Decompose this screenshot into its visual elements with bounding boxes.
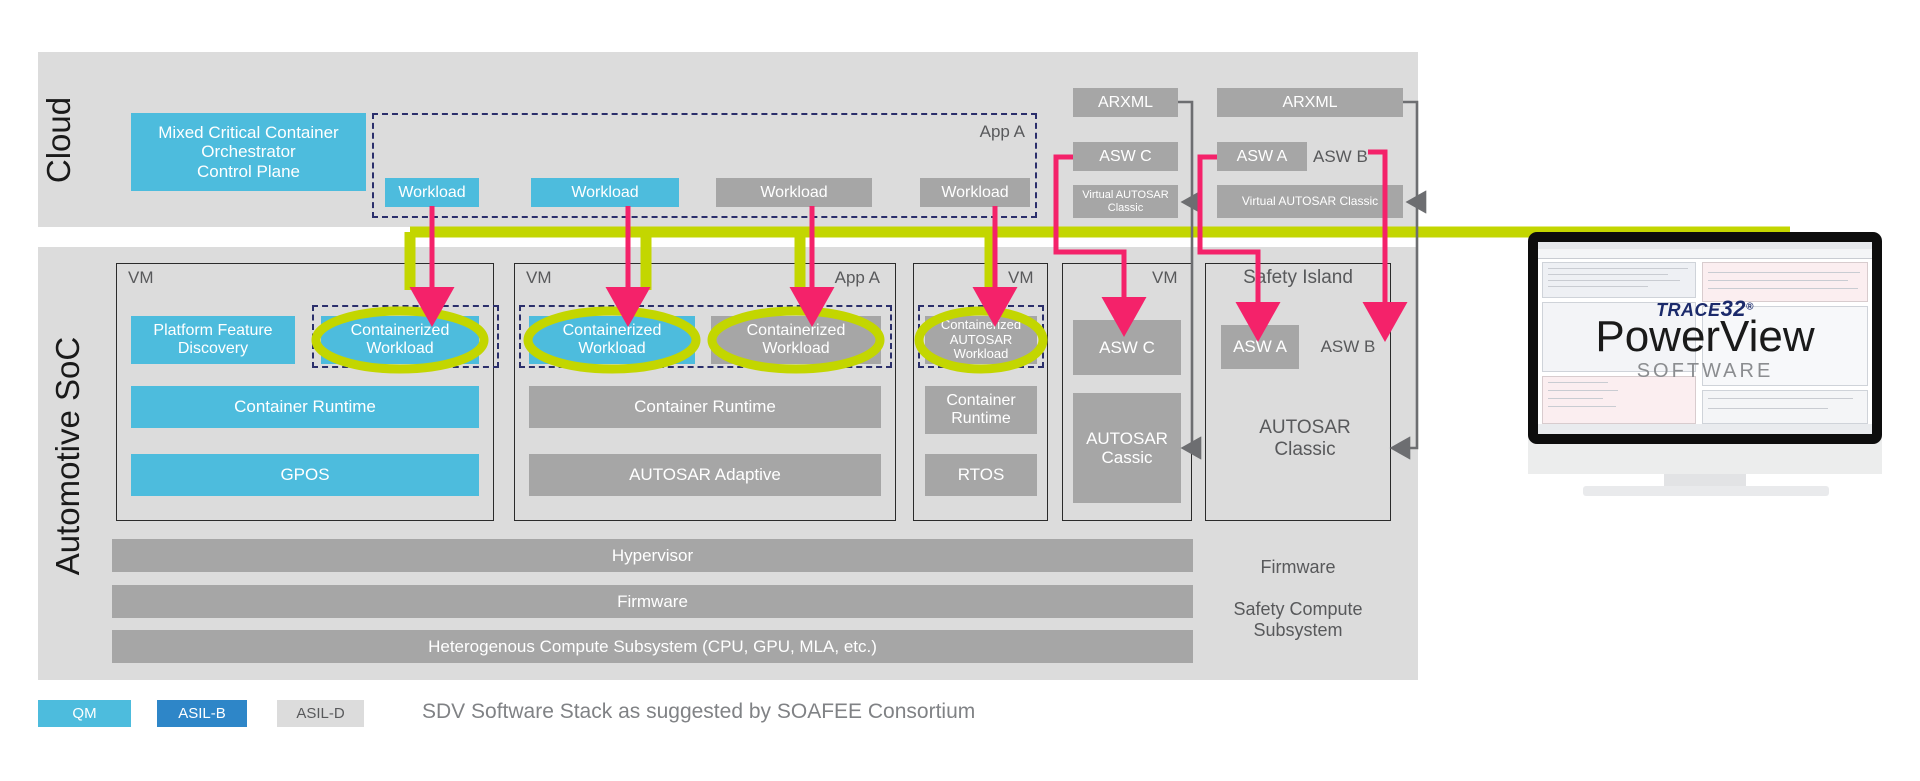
screen-text-line	[1708, 288, 1858, 289]
safety-island-autosar-classic-label: AUTOSAR Classic	[1230, 415, 1380, 463]
vm-2-container-runtime[interactable]: Container Runtime	[529, 386, 881, 428]
vm-2-containerized-workload-a[interactable]: Containerized Workload	[529, 316, 695, 364]
cloud-asw-b-label: ASW B	[1313, 142, 1403, 171]
screen-text-line	[1708, 408, 1828, 409]
legend-chip-qm[interactable]: QM	[38, 700, 131, 727]
vm-3-rtos[interactable]: RTOS	[925, 454, 1037, 496]
screen-statusbar	[1538, 424, 1872, 434]
cloud-virtual-autosar-classic-left[interactable]: Virtual AUTOSAR Classic	[1073, 185, 1178, 218]
monitor-screen[interactable]: TRACE32® PowerView SOFTWARE	[1538, 242, 1872, 434]
screen-text-line	[1708, 280, 1848, 281]
hypervisor-layer[interactable]: Hypervisor	[112, 539, 1193, 572]
diagram-root: Cloud Automotive SoC Mixed Critical Cont…	[0, 0, 1920, 781]
cloud-arxml-left[interactable]: ARXML	[1073, 88, 1178, 117]
screen-text-line	[1548, 398, 1603, 399]
cloud-virtual-autosar-classic-right[interactable]: Virtual AUTOSAR Classic	[1217, 185, 1403, 218]
legend-chip-asil-b[interactable]: ASIL-B	[157, 700, 247, 727]
screen-text-line	[1548, 274, 1668, 275]
cloud-arxml-right[interactable]: ARXML	[1217, 88, 1403, 117]
vm-2-autosar-adaptive[interactable]: AUTOSAR Adaptive	[529, 454, 881, 496]
screen-text-line	[1548, 268, 1688, 269]
vm-3-title: VM	[1008, 268, 1034, 288]
screen-text-line	[1548, 406, 1616, 407]
screen-text-line	[1708, 398, 1853, 399]
vm-3-container-runtime[interactable]: Container Runtime	[925, 386, 1037, 434]
vm-1-container-runtime[interactable]: Container Runtime	[131, 386, 479, 428]
vm-2-containerized-workload-b[interactable]: Containerized Workload	[711, 316, 881, 364]
cloud-workload-3[interactable]: Workload	[716, 178, 872, 207]
diagram-caption: SDV Software Stack as suggested by SOAFE…	[422, 700, 975, 724]
heterogenous-compute-subsystem-layer[interactable]: Heterogenous Compute Subsystem (CPU, GPU…	[112, 630, 1193, 663]
mixed-critical-orchestrator-box[interactable]: Mixed Critical Container Orchestrator Co…	[131, 113, 366, 191]
safety-island	[1205, 263, 1391, 521]
screen-text-line	[1548, 382, 1608, 383]
screen-text-line	[1548, 280, 1680, 281]
cloud-workload-4[interactable]: Workload	[920, 178, 1030, 207]
screen-toolbar	[1538, 249, 1872, 258]
safety-island-asw-a[interactable]: ASW A	[1221, 325, 1299, 369]
safety-island-asw-b-label: ASW B	[1308, 325, 1388, 369]
screen-panel-top-right	[1702, 262, 1868, 302]
vm-2-title: VM	[526, 268, 552, 288]
platform-feature-discovery-box[interactable]: Platform Feature Discovery	[131, 316, 295, 364]
screen-text-line	[1548, 286, 1648, 287]
screen-panel-mid-left	[1542, 302, 1696, 372]
screen-text-line	[1548, 390, 1618, 391]
screen-panel-mid-right	[1702, 306, 1868, 386]
screen-panel-bottom-right	[1702, 390, 1868, 424]
cloud-asw-c[interactable]: ASW C	[1073, 142, 1178, 171]
cloud-workload-1[interactable]: Workload	[385, 178, 479, 207]
safety-compute-subsystem-label: Safety Compute Subsystem	[1205, 595, 1391, 645]
safety-firmware-label: Firmware	[1205, 555, 1391, 579]
legend-chip-asil-d[interactable]: ASIL-D	[277, 700, 364, 727]
vm-4-asw-c[interactable]: ASW C	[1073, 320, 1181, 375]
safety-island-title: Safety Island	[1205, 263, 1391, 293]
screen-text-line	[1708, 272, 1860, 273]
vm-3-containerized-autosar-workload[interactable]: Containerized AUTOSAR Workload	[925, 316, 1037, 364]
vm-4-title: VM	[1152, 268, 1178, 288]
cloud-asw-a[interactable]: ASW A	[1217, 142, 1307, 171]
screen-panel-bottom-left	[1542, 376, 1696, 424]
cloud-band-label: Cloud	[40, 90, 110, 190]
vm-1-gpos[interactable]: GPOS	[131, 454, 479, 496]
vm-1-title: VM	[128, 268, 154, 288]
vm-1-containerized-workload[interactable]: Containerized Workload	[321, 316, 479, 364]
firmware-layer[interactable]: Firmware	[112, 585, 1193, 618]
screen-toolbar-divider	[1538, 258, 1872, 259]
monitor-base	[1583, 486, 1829, 496]
screen-titlebar	[1538, 242, 1872, 249]
cloud-workload-2[interactable]: Workload	[531, 178, 679, 207]
vm-2-app-a-label: App A	[810, 268, 880, 288]
cloud-app-a-label: App A	[955, 122, 1025, 142]
vm-4-autosar-classic[interactable]: AUTOSAR Cassic	[1073, 393, 1181, 503]
automotive-soc-band-label: Automotive SoC	[49, 326, 91, 586]
